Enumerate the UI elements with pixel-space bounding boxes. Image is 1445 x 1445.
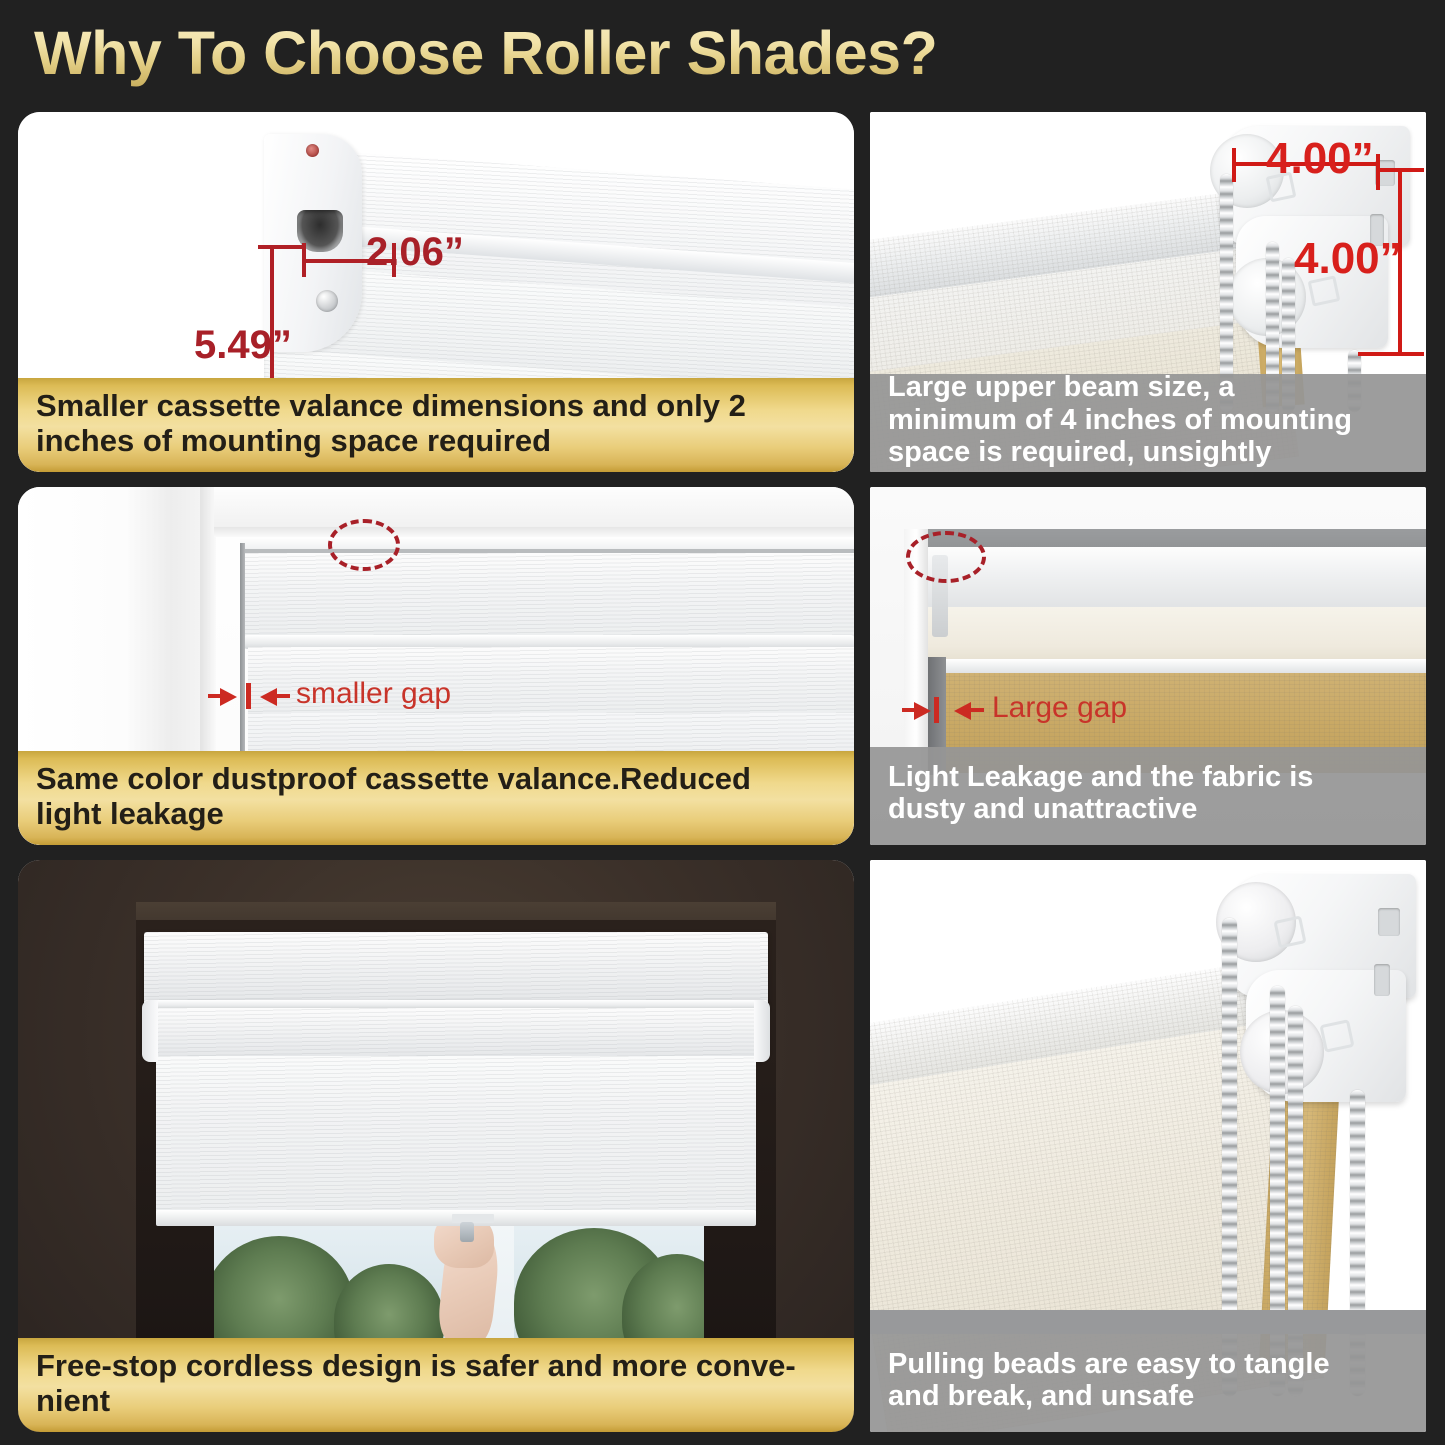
shade-valance-texture [144,932,768,1006]
panel-2-caption-line-3: space is required, unsightly [888,436,1410,468]
dimension-tick-top-height [258,245,304,249]
panel-1-caption-line-1: Smaller cassette valance dimensions and … [36,389,838,424]
shade-valance [144,932,768,1006]
panel-6-caption-line-2: and break, and unsafe [888,1380,1410,1412]
gap-arrow-right-tail-4 [902,708,916,712]
panel-6-caption: Pulling beads are easy to tangle and bre… [870,1334,1426,1432]
bracket-notch-1-6 [1378,908,1400,936]
panel-3-caption-line-1: Same color dustproof cassette valance.Re… [36,762,838,797]
panel-2-caption-line-2: minimum of 4 inches of mounting [888,404,1410,436]
panel-2-caption-line-1: Large upper beam size, a [888,371,1410,403]
dimension-label-height-2: 4.00” [1294,234,1402,284]
panel-3-dustproof-valance: smaller gap Same color dustproof cassett… [18,487,854,845]
gap-measure-bar-4 [934,697,939,723]
highlight-ellipse-icon-4 [906,531,986,583]
gap-arrow-left-tail [276,694,290,698]
shade-valance-roll [144,1008,768,1060]
panel-5-cordless-design: Free-stop cordless design is safer and m… [18,860,854,1432]
panel-4-caption-line-2: dusty and unattractive [888,793,1410,825]
valance-face-texture [244,553,854,643]
highlight-ellipse-icon [328,519,400,571]
panel-4-caption: Light Leakage and the fabric is dusty an… [870,747,1426,845]
panel-4-light-leakage: Large gap Light Leakage and the fabric i… [870,487,1426,845]
gap-arrow-right-tail [208,694,222,698]
dimension-tick-top-height-2 [1378,168,1424,172]
gap-arrow-right-icon-4 [914,702,931,720]
valance-endcap-left [142,1000,158,1062]
panel-1-caption: Smaller cassette valance dimensions and … [18,378,854,472]
bracket-emboss-arrow-upper-6 [1273,915,1306,948]
panel-3-caption: Same color dustproof cassette valance.Re… [18,751,854,845]
side-gap-column [240,543,245,775]
shade-pull-knob [460,1222,474,1242]
panel-6-floor-band [870,1310,1426,1334]
page-title: Why To Choose Roller Shades? [34,18,937,88]
valance-cream-band [926,607,1426,663]
gap-label-smaller: smaller gap [296,677,451,711]
window-casing-top [214,487,854,531]
panel-3-caption-line-2: light leakage [36,797,838,832]
panel-5-caption: Free-stop cordless design is safer and m… [18,1338,854,1432]
panel-4-caption-line-1: Light Leakage and the fabric is [888,761,1410,793]
panel-6-pulling-beads: Pulling beads are easy to tangle and bre… [870,860,1426,1432]
panel-1-caption-line-2: inches of mounting space required [36,424,838,459]
gap-arrow-left-icon-4 [954,702,971,720]
valance-marker-dot [306,144,319,157]
dimension-label-height: 5.49” [194,323,292,368]
panel-1-smaller-cassette: 2.06” 5.49” Smaller cassette valance dim… [18,112,854,472]
window-casing-top-bevel [214,527,854,537]
panel-2-caption: Large upper beam size, a minimum of 4 in… [870,374,1426,472]
shade-valance-roll-texture [144,1008,768,1060]
panel-6-caption-line-1: Pulling beads are easy to tangle [888,1348,1410,1380]
cassette-valance-face [244,553,854,643]
headrail-beam [922,547,1426,613]
dimension-tick-left-width-2 [1232,148,1236,182]
shade-brand-tag [452,1214,494,1223]
dimension-label-width: 2.06” [366,230,464,275]
dimension-tick-right-width-2 [1376,154,1380,190]
valance-screw-upper [316,290,338,312]
panel-5-caption-line-2: nient [36,1384,838,1419]
shade-fabric-main-texture [156,1056,756,1218]
gap-arrow-left-tail-4 [970,708,984,712]
gap-arrow-right-icon [220,688,237,706]
shade-fabric-main [156,1056,756,1218]
page-header: Why To Choose Roller Shades? [0,0,1445,105]
dimension-tick-bottom-height-2 [1358,352,1424,356]
bracket-notch-2-6 [1374,964,1390,996]
valance-endcap-right [754,1000,770,1062]
tree-left [214,1236,354,1352]
panel-5-caption-line-1: Free-stop cordless design is safer and m… [36,1349,838,1384]
dimension-label-width-2: 4.00” [1266,134,1374,184]
gap-label-large: Large gap [992,691,1127,725]
gap-arrow-left-icon [260,688,277,706]
gap-measure-bar [246,683,251,709]
panel-2-large-beam: 4.00” 4.00” Large upper beam size, a min… [870,112,1426,472]
